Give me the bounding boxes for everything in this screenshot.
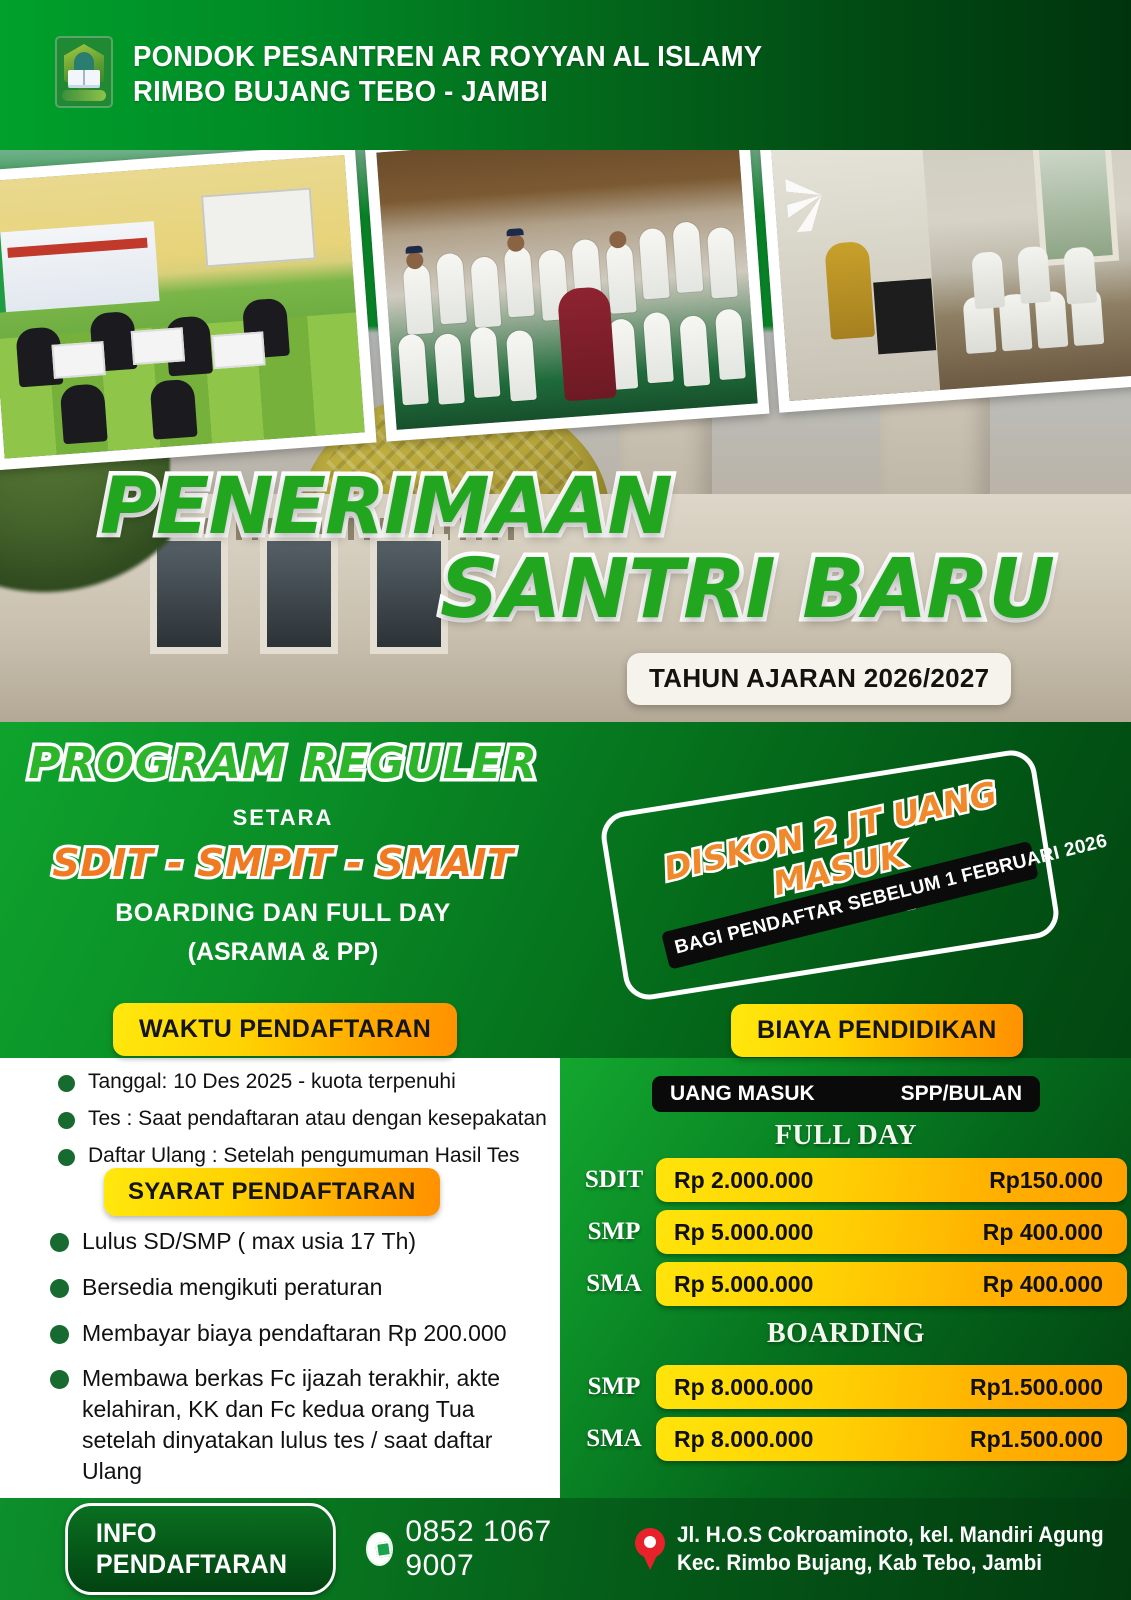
phone-number: 0852 1067 9007 <box>405 1515 583 1583</box>
wall-emblem <box>784 158 859 233</box>
program-mode: BOARDING DAN FULL DAY <box>0 899 566 928</box>
student <box>643 312 674 384</box>
program-levels: SDIT - SMPIT - SMAIT <box>0 841 566 885</box>
bullet-dot-icon <box>50 1325 69 1344</box>
cell-uang-masuk: Rp 2.000.000 <box>656 1167 813 1194</box>
whatsapp-icon <box>366 1532 394 1566</box>
requirements-heading-pill: SYARAT PENDAFTARAN <box>104 1168 440 1216</box>
cell-spp: Rp150.000 <box>989 1167 1127 1194</box>
requirements-list: Lulus SD/SMP ( max usia 17 Th) Bersedia … <box>50 1226 555 1502</box>
list-item-text: Daftar Ulang : Setelah pengumuman Hasil … <box>88 1142 520 1170</box>
headline-line-1: PENERIMAAN <box>0 470 1131 545</box>
table-row: SDIT Rp 2.000.000 Rp150.000 <box>572 1158 1127 1202</box>
program-mode-sub: (ASRAMA & PP) <box>0 938 566 967</box>
row-level: SMA <box>572 1270 656 1298</box>
list-item: Membayar biaya pendaftaran Rp 200.000 <box>50 1318 555 1349</box>
footer-bar: INFO PENDAFTARAN 0852 1067 9007 Jl. H.O.… <box>0 1498 1131 1600</box>
list-item: Tes : Saat pendaftaran atau dengan kesep… <box>58 1105 553 1133</box>
fees-table-header: UANG MASUK SPP/BULAN <box>652 1076 1040 1112</box>
column-header-uang-masuk: UANG MASUK <box>652 1082 815 1106</box>
list-item-text: Tanggal: 10 Des 2025 - kuota terpenuhi <box>88 1068 456 1096</box>
row-level: SMP <box>572 1218 656 1246</box>
logo-book-shape <box>68 70 100 85</box>
student <box>606 242 637 314</box>
program-setara-label: SETARA <box>0 805 566 831</box>
bullet-dot-icon <box>50 1370 69 1389</box>
bullet-dot-icon <box>58 1075 75 1092</box>
bullet-dot-icon <box>50 1233 69 1252</box>
student <box>403 263 434 335</box>
table-row: SMA Rp 8.000.000 Rp1.500.000 <box>572 1417 1127 1461</box>
cell-uang-masuk: Rp 5.000.000 <box>656 1271 813 1298</box>
photo-computer-exam-hall <box>0 143 377 470</box>
student <box>673 221 704 293</box>
map-pin-icon <box>635 1528 665 1570</box>
list-item: Bersedia mengikuti peraturan <box>50 1272 555 1303</box>
headline-line-2: SANTRI BARU <box>0 551 1131 630</box>
address-block: Jl. H.O.S Cokroaminoto, kel. Mandiri Agu… <box>635 1521 1131 1577</box>
bullet-dot-icon <box>58 1112 75 1129</box>
fees-table-panel: UANG MASUK SPP/BULAN FULL DAY SDIT Rp 2.… <box>560 1058 1131 1498</box>
row-level: SMP <box>572 1373 656 1401</box>
cell-uang-masuk: Rp 8.000.000 <box>656 1374 813 1401</box>
cell-spp: Rp 400.000 <box>983 1271 1127 1298</box>
table-row: SMP Rp 5.000.000 Rp 400.000 <box>572 1210 1127 1254</box>
seated-person <box>60 383 108 444</box>
map-pin-hole <box>644 1536 656 1548</box>
registration-heading-pill: WAKTU PENDAFTARAN <box>113 1003 457 1056</box>
classroom-window <box>1032 133 1119 266</box>
list-item-text: Membayar biaya pendaftaran Rp 200.000 <box>82 1318 507 1349</box>
photo-content <box>377 126 758 430</box>
teacher-figure <box>824 241 875 340</box>
row-values: Rp 5.000.000 Rp 400.000 <box>656 1210 1127 1254</box>
student <box>679 315 710 387</box>
student <box>398 334 429 406</box>
address-line-2: Kec. Rimbo Bujang, Kab Tebo, Jambi <box>677 1549 1104 1577</box>
hero-headline: PENERIMAAN SANTRI BARU <box>0 470 1131 630</box>
institution-location: RIMBO BUJANG TEBO - JAMBI <box>133 75 762 110</box>
row-level: SDIT <box>572 1166 656 1194</box>
cell-spp: Rp 400.000 <box>983 1219 1127 1246</box>
list-item: Lulus SD/SMP ( max usia 17 Th) <box>50 1226 555 1257</box>
registration-list: Tanggal: 10 Des 2025 - kuota terpenuhi T… <box>58 1068 553 1179</box>
student <box>504 246 535 318</box>
student <box>1017 246 1051 304</box>
bullet-dot-icon <box>50 1279 69 1298</box>
student <box>971 251 1005 309</box>
row-level: SMA <box>572 1425 656 1453</box>
cell-spp: Rp1.500.000 <box>970 1374 1127 1401</box>
laptop <box>52 341 106 379</box>
student <box>715 308 746 380</box>
logo-graphic <box>61 42 107 102</box>
seated-person <box>149 379 197 440</box>
row-values: Rp 5.000.000 Rp 400.000 <box>656 1262 1127 1306</box>
info-pendaftaran-button[interactable]: INFO PENDAFTARAN <box>65 1503 335 1595</box>
table-row: SMA Rp 5.000.000 Rp 400.000 <box>572 1262 1127 1306</box>
address-lines: Jl. H.O.S Cokroaminoto, kel. Mandiri Agu… <box>677 1521 1131 1577</box>
wall-poster <box>201 188 316 268</box>
list-item-text: Membawa berkas Fc ijazah terakhir, akte … <box>82 1363 555 1486</box>
pesantren-logo-icon <box>55 36 113 108</box>
fees-group-title-boarding: BOARDING <box>652 1318 1040 1350</box>
student <box>434 333 465 405</box>
table-row: SMP Rp 8.000.000 Rp1.500.000 <box>572 1365 1127 1409</box>
poster-root: PENERIMAAN SANTRI BARU TAHUN AJARAN 2026… <box>0 0 1131 1600</box>
bullet-dot-icon <box>58 1149 75 1166</box>
peci-cap <box>406 245 423 253</box>
row-values: Rp 2.000.000 Rp150.000 <box>656 1158 1127 1202</box>
list-item-text: Tes : Saat pendaftaran atau dengan kesep… <box>88 1105 547 1133</box>
cell-uang-masuk: Rp 8.000.000 <box>656 1426 813 1453</box>
podium <box>873 278 936 354</box>
row-values: Rp 8.000.000 Rp1.500.000 <box>656 1417 1127 1461</box>
institution-name: PONDOK PESANTREN AR ROYYAN AL ISLAMY <box>133 40 762 75</box>
cell-spp: Rp1.500.000 <box>970 1426 1127 1453</box>
photo-content <box>0 155 365 459</box>
logo-ribbon-shape <box>62 90 106 101</box>
fees-group-title-fullday: FULL DAY <box>652 1120 1040 1152</box>
header-title-block: PONDOK PESANTREN AR ROYYAN AL ISLAMY RIM… <box>133 40 795 111</box>
student <box>639 228 670 300</box>
peci-cap <box>507 228 524 236</box>
student <box>471 256 502 328</box>
laptop <box>131 327 185 365</box>
header-bar: PONDOK PESANTREN AR ROYYAN AL ISLAMY RIM… <box>0 0 1131 150</box>
academic-year-badge: TAHUN AJARAN 2026/2027 <box>627 653 1011 705</box>
list-item-text: Lulus SD/SMP ( max usia 17 Th) <box>82 1226 416 1257</box>
whatsapp-contact[interactable]: 0852 1067 9007 <box>366 1515 584 1583</box>
column-header-spp: SPP/BULAN <box>901 1082 1040 1106</box>
program-title: PROGRAM REGULER <box>0 738 566 789</box>
cell-uang-masuk: Rp 5.000.000 <box>656 1219 813 1246</box>
address-line-1: Jl. H.O.S Cokroaminoto, kel. Mandiri Agu… <box>677 1521 1104 1549</box>
student <box>506 330 537 402</box>
ustadz-seated <box>557 286 617 402</box>
student <box>436 253 467 325</box>
list-item: Membawa berkas Fc ijazah terakhir, akte … <box>50 1363 555 1486</box>
info-white-panel: Tanggal: 10 Des 2025 - kuota terpenuhi T… <box>0 1058 560 1498</box>
hall-banner <box>0 221 160 313</box>
student <box>470 326 501 398</box>
list-item: Tanggal: 10 Des 2025 - kuota terpenuhi <box>58 1068 553 1096</box>
laptop <box>211 331 265 369</box>
program-block: PROGRAM REGULER SETARA SDIT - SMPIT - SM… <box>0 738 566 967</box>
student <box>707 227 738 299</box>
row-values: Rp 8.000.000 Rp1.500.000 <box>656 1365 1127 1409</box>
photo-santri-group <box>365 114 769 441</box>
fees-heading-pill: BIAYA PENDIDIKAN <box>731 1004 1023 1057</box>
list-item-text: Bersedia mengikuti peraturan <box>82 1272 382 1303</box>
student <box>1063 246 1097 304</box>
list-item: Daftar Ulang : Setelah pengumuman Hasil … <box>58 1142 553 1170</box>
